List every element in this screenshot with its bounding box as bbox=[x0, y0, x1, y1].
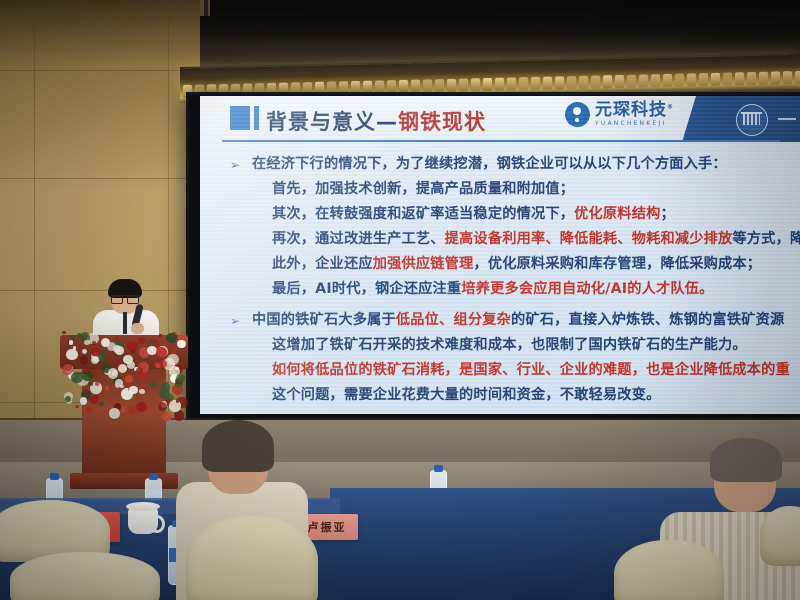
banquet-chair bbox=[614, 540, 724, 600]
registered-mark-icon: ® bbox=[667, 103, 674, 110]
seal-tail-line bbox=[778, 118, 796, 120]
bullet-arrow-icon: ➢ bbox=[230, 153, 240, 178]
glasses-icon bbox=[111, 295, 139, 302]
slide-title: 背景与意义—钢铁现状 bbox=[266, 106, 486, 136]
slide-text-run: 其次，在转鼓强度和返矿率适当稳定的情况下， bbox=[272, 206, 574, 222]
slide-line: 其次，在转鼓强度和返矿率适当稳定的情况下，优化原料结构； bbox=[200, 202, 800, 227]
slide-title-main: 背景与意义 bbox=[266, 110, 376, 134]
university-seal-icon bbox=[736, 104, 768, 136]
slide-text-run: 低品位、组分复杂 bbox=[396, 312, 511, 328]
conference-room-scene: 背景与意义—钢铁现状 元琛科技® YUANCHENKEJI ➢在经济下行的情况下… bbox=[0, 0, 800, 600]
slide-text-run: 的矿石，直接入炉炼铁、炼钢的富铁矿资源 bbox=[511, 312, 784, 328]
slide-text-run: 这个问题，需要企业花费大量的时间和资金，不敢轻易改变。 bbox=[272, 387, 660, 403]
attendee-hair bbox=[202, 420, 274, 472]
slide-text-run: 培养更多会应用自动化/AI的人才队伍。 bbox=[461, 281, 713, 297]
slide-line: 如何将低品位的铁矿石消耗，是国家、行业、企业的难题，也是企业降低成本的重 bbox=[200, 358, 800, 383]
slide-text-run: 提高设备利用率、降低能耗、物耗和减少排放 bbox=[445, 231, 733, 247]
yuanchen-logo-icon bbox=[565, 102, 590, 127]
slide-body: ➢在经济下行的情况下，为了继续挖潜，钢铁企业可以从以下几个方面入手：首先，加强技… bbox=[200, 142, 800, 408]
slide-text-run: 在经济下行的情况下，为了继续挖潜，钢铁企业可以从以下几个方面入手： bbox=[252, 156, 727, 172]
slide-line: ➢中国的铁矿石大多属于低品位、组分复杂的矿石，直接入炉炼铁、炼钢的富铁矿资源 bbox=[200, 308, 800, 333]
header-accent-bar-thin bbox=[254, 106, 259, 130]
slide-line: 首先，加强技术创新，提高产品质量和附加值； bbox=[200, 177, 800, 202]
slide-line: 再次，通过改进生产工艺、提高设备利用率、降低能耗、物耗和减少排放等方式，降 bbox=[200, 227, 800, 252]
banquet-chair bbox=[760, 506, 800, 566]
slide-line: 此外，企业还应加强供应链管理，优化原料采购和库存管理，降低采购成本； bbox=[200, 252, 800, 277]
header-accent-bar bbox=[230, 106, 250, 130]
slide-text-run: 这增加了铁矿石开采的技术难度和成本，也限制了国内铁矿石的生产能力。 bbox=[272, 337, 747, 353]
slide-text-run: ； bbox=[660, 206, 674, 222]
slide-text-run: 最后，AI时代，钢企还应注重 bbox=[272, 281, 461, 297]
slide-header: 背景与意义—钢铁现状 元琛科技® YUANCHENKEJI bbox=[200, 96, 800, 142]
flower-arrangement bbox=[62, 330, 186, 420]
slide-title-accent: 钢铁现状 bbox=[398, 110, 486, 134]
projection-screen: 背景与意义—钢铁现状 元琛科技® YUANCHENKEJI ➢在经济下行的情况下… bbox=[200, 96, 800, 414]
slide-line: 这个问题，需要企业花费大量的时间和资金，不敢轻易改变。 bbox=[200, 383, 800, 408]
bullet-arrow-icon: ➢ bbox=[230, 309, 240, 334]
slide-text-run: ，优化原料采购和库存管理，降低采购成本； bbox=[473, 256, 761, 272]
banquet-chair bbox=[186, 516, 318, 600]
slide-title-dash: — bbox=[376, 110, 398, 134]
slide-line: ➢在经济下行的情况下，为了继续挖潜，钢铁企业可以从以下几个方面入手： bbox=[200, 152, 800, 177]
slide-text-run: 中国的铁矿石大多属于 bbox=[252, 312, 396, 328]
logo-text-en: YUANCHENKEJI bbox=[595, 121, 674, 127]
slide-line: 最后，AI时代，钢企还应注重培养更多会应用自动化/AI的人才队伍。 bbox=[200, 277, 800, 302]
slide-text-run: 如何将低品位的铁矿石消耗，是国家、行业、企业的难题，也是企业降低成本的重 bbox=[272, 362, 790, 378]
ceiling-shadow bbox=[182, 0, 800, 46]
slide-text-run: 加强供应链管理 bbox=[373, 256, 474, 272]
slide-line: 这增加了铁矿石开采的技术难度和成本，也限制了国内铁矿石的生产能力。 bbox=[200, 333, 800, 358]
logo-text-cn: 元琛科技 bbox=[595, 100, 667, 120]
slide-text-run: 等方式，降 bbox=[732, 231, 800, 247]
tea-cup bbox=[128, 508, 158, 534]
slide-text-run: 再次，通过改进生产工艺、 bbox=[272, 231, 445, 247]
slide-text-run: 此外，企业还应 bbox=[272, 256, 373, 272]
slide-text-run: 首先，加强技术创新，提高产品质量和附加值； bbox=[272, 181, 574, 197]
company-logo: 元琛科技® YUANCHENKEJI bbox=[565, 102, 674, 127]
banquet-chair bbox=[10, 552, 160, 600]
attendee-hair bbox=[710, 438, 782, 482]
slide-text-run: 优化原料结构 bbox=[574, 206, 660, 222]
